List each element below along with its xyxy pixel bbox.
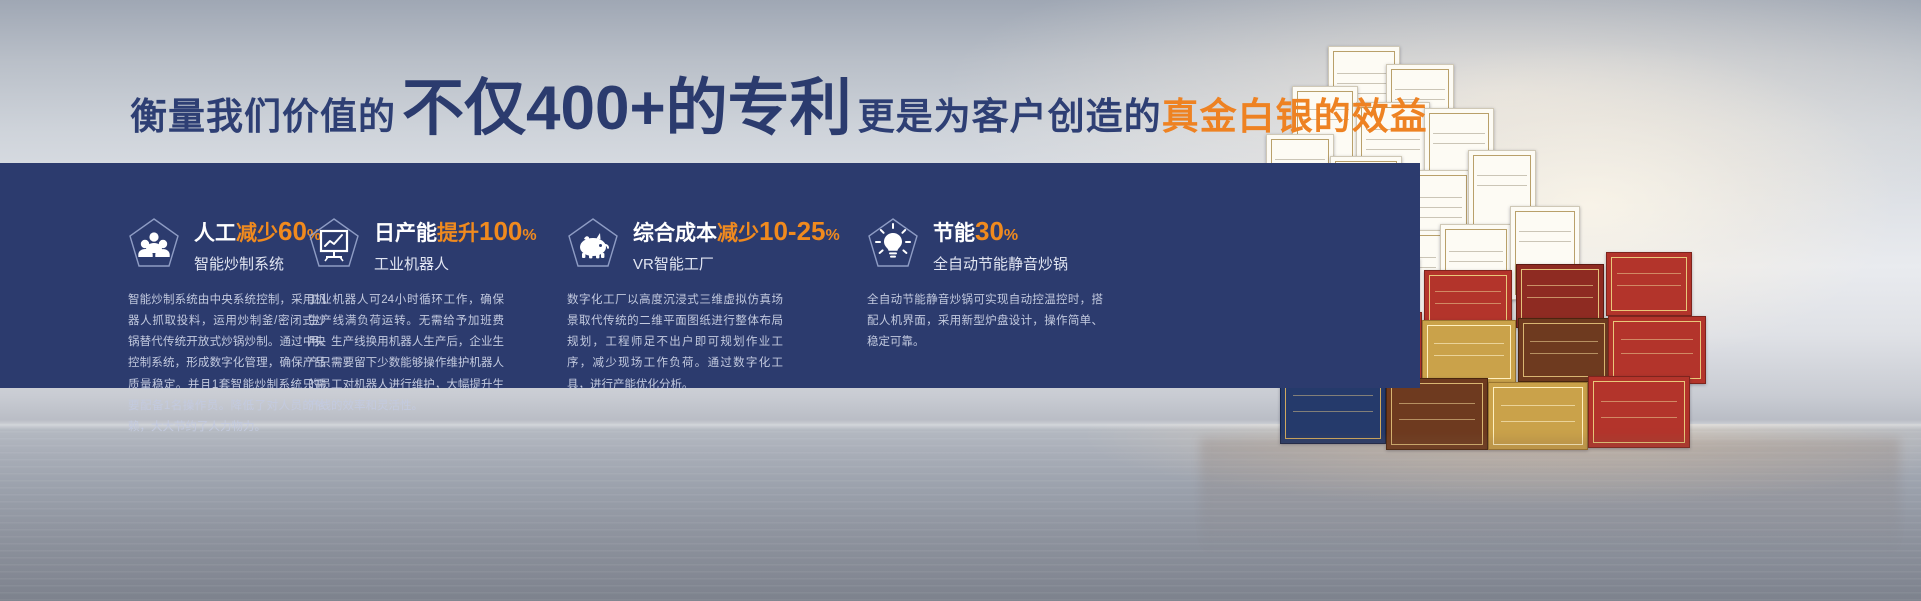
piggy-bank-icon (567, 217, 619, 273)
feature-column-energy: 节能30% 全自动节能静音炒锅 全自动节能静音炒锅可实现自动控温控时，搭配人机界… (845, 163, 1175, 388)
feature-title-unit: % (522, 227, 536, 244)
feature-title-prefix: 节能 (933, 222, 975, 245)
feature-body: 工业机器人可24小时循环工作，确保生产线满负荷运转。无需给予加班费用。生产线换用… (308, 290, 504, 418)
feature-title-unit: % (1004, 227, 1018, 244)
light-bulb-icon (867, 217, 919, 273)
award-plaque (1518, 318, 1610, 382)
award-plaque (1422, 320, 1516, 384)
award-plaque (1608, 316, 1706, 384)
feature-subtitle: VR智能工厂 (633, 253, 840, 274)
feature-column-capacity: 日产能提升100% 工业机器人 工业机器人可24小时循环工作，确保生产线满负荷运… (290, 163, 555, 388)
headline-lead: 衡量我们价值的 (130, 86, 396, 140)
feature-text: 日产能提升100% 工业机器人 (374, 215, 537, 274)
banner-stage: 衡量我们价值的 不仅400+的专利 更是为客户创造的 真金白银的效益 (0, 0, 1921, 601)
feature-text: 综合成本减少10-25% VR智能工厂 (633, 215, 840, 274)
feature-title: 综合成本减少10-25% (633, 217, 840, 246)
feature-header: 综合成本减少10-25% VR智能工厂 (567, 215, 845, 274)
feature-text: 节能30% 全自动节能静音炒锅 (933, 215, 1068, 274)
feature-title-number: 30 (975, 216, 1004, 246)
people-group-icon (128, 217, 180, 273)
feature-header: 节能30% 全自动节能静音炒锅 (867, 215, 1175, 274)
feature-subtitle: 工业机器人 (374, 253, 537, 274)
feature-title: 节能30% (933, 217, 1068, 246)
feature-column-cost: 综合成本减少10-25% VR智能工厂 数字化工厂以高度沉浸式三维虚拟仿真场景取… (555, 163, 845, 388)
feature-title-prefix: 人工 (194, 222, 236, 245)
feature-body: 全自动节能静音炒锅可实现自动控温控时，搭配人机界面，采用新型炉盘设计，操作简单、… (867, 290, 1103, 354)
feature-title-unit: % (826, 227, 840, 244)
headline-emphasis: 不仅400+的专利 (402, 78, 852, 140)
feature-header: 日产能提升100% 工业机器人 (308, 215, 555, 274)
certificate-reflection (1200, 438, 1900, 558)
feature-subtitle: 全自动节能静音炒锅 (933, 253, 1068, 274)
feature-columns: 人工减少60% 智能炒制系统 智能炒制系统由中央系统控制，采用机器人抓取投料，运… (0, 163, 1420, 388)
feature-title-prefix: 综合成本 (633, 222, 717, 245)
chart-board-icon (308, 217, 360, 273)
feature-title-number: 10-25 (759, 216, 826, 246)
award-plaque (1606, 252, 1692, 316)
feature-title-prefix: 日产能 (374, 222, 437, 245)
feature-title-accent: 减少 (717, 222, 759, 245)
feature-title-accent: 提升 (437, 222, 479, 245)
feature-title-accent: 减少 (236, 222, 278, 245)
page-headline: 衡量我们价值的 不仅400+的专利 更是为客户创造的 真金白银的效益 (130, 78, 1428, 140)
headline-highlight: 真金白银的效益 (1162, 86, 1428, 140)
feature-header: 人工减少60% 智能炒制系统 (128, 215, 290, 274)
headline-middle: 更是为客户创造的 (858, 86, 1162, 140)
feature-title-number: 100 (479, 216, 522, 246)
feature-column-labor: 人工减少60% 智能炒制系统 智能炒制系统由中央系统控制，采用机器人抓取投料，运… (0, 163, 290, 388)
feature-title: 日产能提升100% (374, 217, 537, 246)
feature-body: 数字化工厂以高度沉浸式三维虚拟仿真场景取代传统的二维平面图纸进行整体布局规划，工… (567, 290, 783, 396)
